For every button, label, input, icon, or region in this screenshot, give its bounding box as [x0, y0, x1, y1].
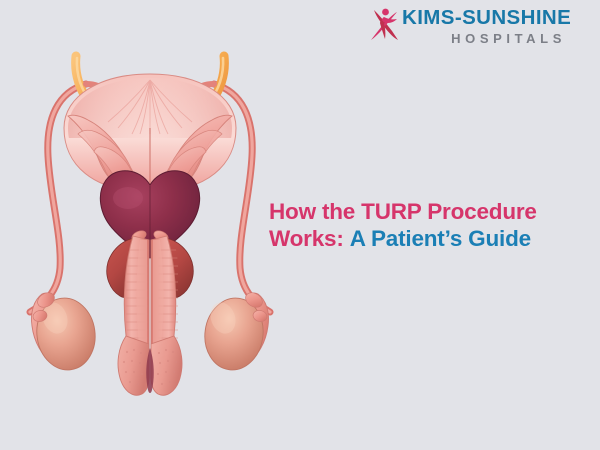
- headline-block: How the TURP Procedure Works: A Patient’…: [269, 198, 594, 252]
- banner-root: KIMS-SUNSHINE HOSPITALS How the TURP Pro…: [0, 0, 600, 450]
- prostate-highlight: [113, 187, 143, 209]
- kims-sunshine-logo[interactable]: KIMS-SUNSHINE HOSPITALS: [368, 6, 568, 54]
- headline-line-2-blue: A Patient’s Guide: [350, 226, 531, 251]
- logo-subtitle: HOSPITALS: [402, 30, 568, 48]
- kims-sunshine-figure-mark: [368, 7, 400, 41]
- headline-line-1: How the TURP Procedure: [269, 198, 594, 225]
- headline-line-2-pink: Works:: [269, 226, 344, 251]
- logo-text-block: KIMS-SUNSHINE HOSPITALS: [402, 6, 568, 48]
- logo-wordmark: KIMS-SUNSHINE: [402, 6, 568, 30]
- headline-line-2: Works: A Patient’s Guide: [269, 225, 594, 252]
